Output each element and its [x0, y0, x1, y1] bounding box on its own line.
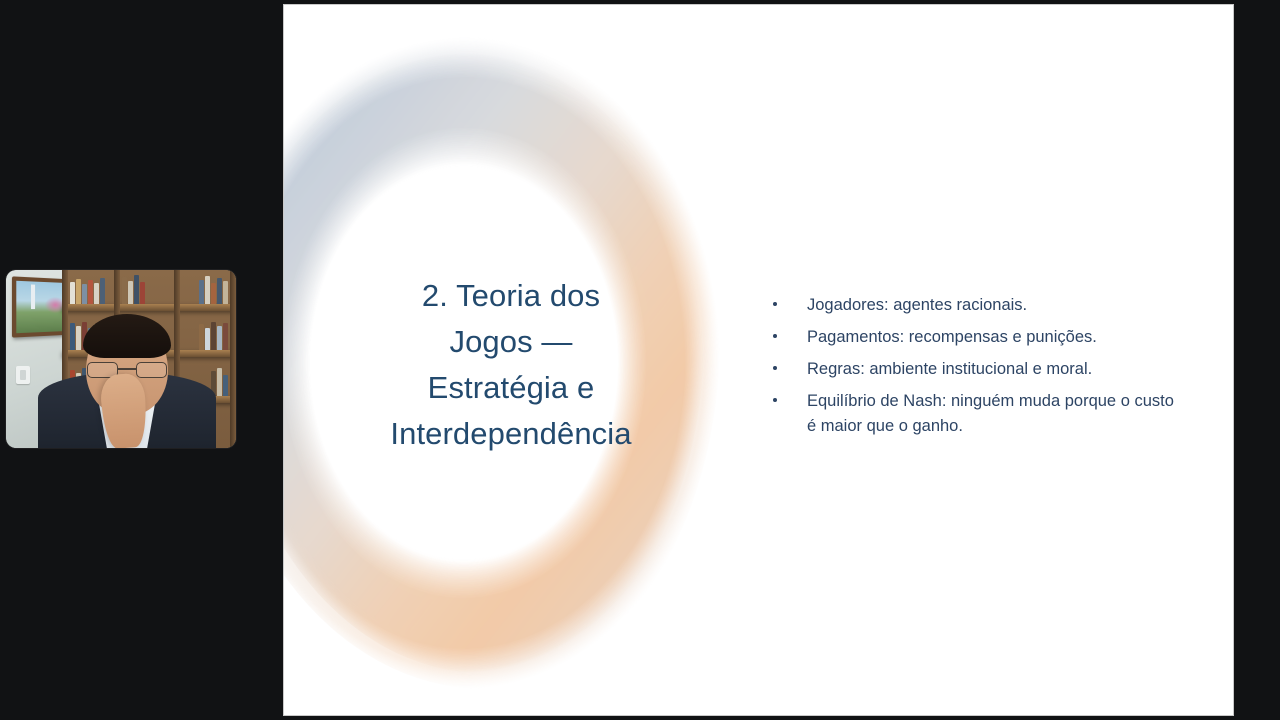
bullet-dot-icon: [773, 334, 777, 338]
light-switch: [16, 366, 30, 384]
eyeglass-lens-right: [136, 362, 167, 378]
bullet-dot-icon: [773, 302, 777, 306]
list-item: Equilíbrio de Nash: ninguém muda porque …: [762, 389, 1182, 439]
book-row: [199, 274, 228, 304]
list-item-label: Regras: ambiente institucional e moral.: [807, 360, 1092, 378]
book-row: [70, 276, 105, 304]
list-item: Regras: ambiente institucional e moral.: [762, 357, 1182, 382]
screen-share-window: 2. Teoria dos Jogos — Estratégia e Inter…: [0, 0, 1280, 720]
book-row: [199, 320, 228, 350]
list-item-label: Jogadores: agentes racionais.: [807, 296, 1027, 314]
list-item-label: Pagamentos: recompensas e punições.: [807, 328, 1097, 346]
person-on-camera: [52, 316, 202, 448]
bullet-dot-icon: [773, 398, 777, 402]
slide-title: 2. Teoria dos Jogos — Estratégia e Inter…: [346, 273, 676, 457]
book-row: [122, 274, 145, 304]
webcam-video-feed: [6, 270, 236, 448]
webcam-self-view-tile[interactable]: [6, 270, 236, 448]
eyeglass-bridge: [118, 368, 136, 370]
shelf-board: [62, 304, 236, 311]
bullet-dot-icon: [773, 366, 777, 370]
shelf-upright: [230, 270, 236, 448]
list-item: Pagamentos: recompensas e punições.: [762, 325, 1182, 350]
slide-bullet-list: Jogadores: agentes racionais. Pagamentos…: [762, 293, 1182, 446]
list-item: Jogadores: agentes racionais.: [762, 293, 1182, 318]
hair: [83, 314, 171, 358]
shared-presentation-slide[interactable]: 2. Teoria dos Jogos — Estratégia e Inter…: [283, 4, 1234, 716]
list-item-label: Equilíbrio de Nash: ninguém muda porque …: [807, 392, 1174, 435]
